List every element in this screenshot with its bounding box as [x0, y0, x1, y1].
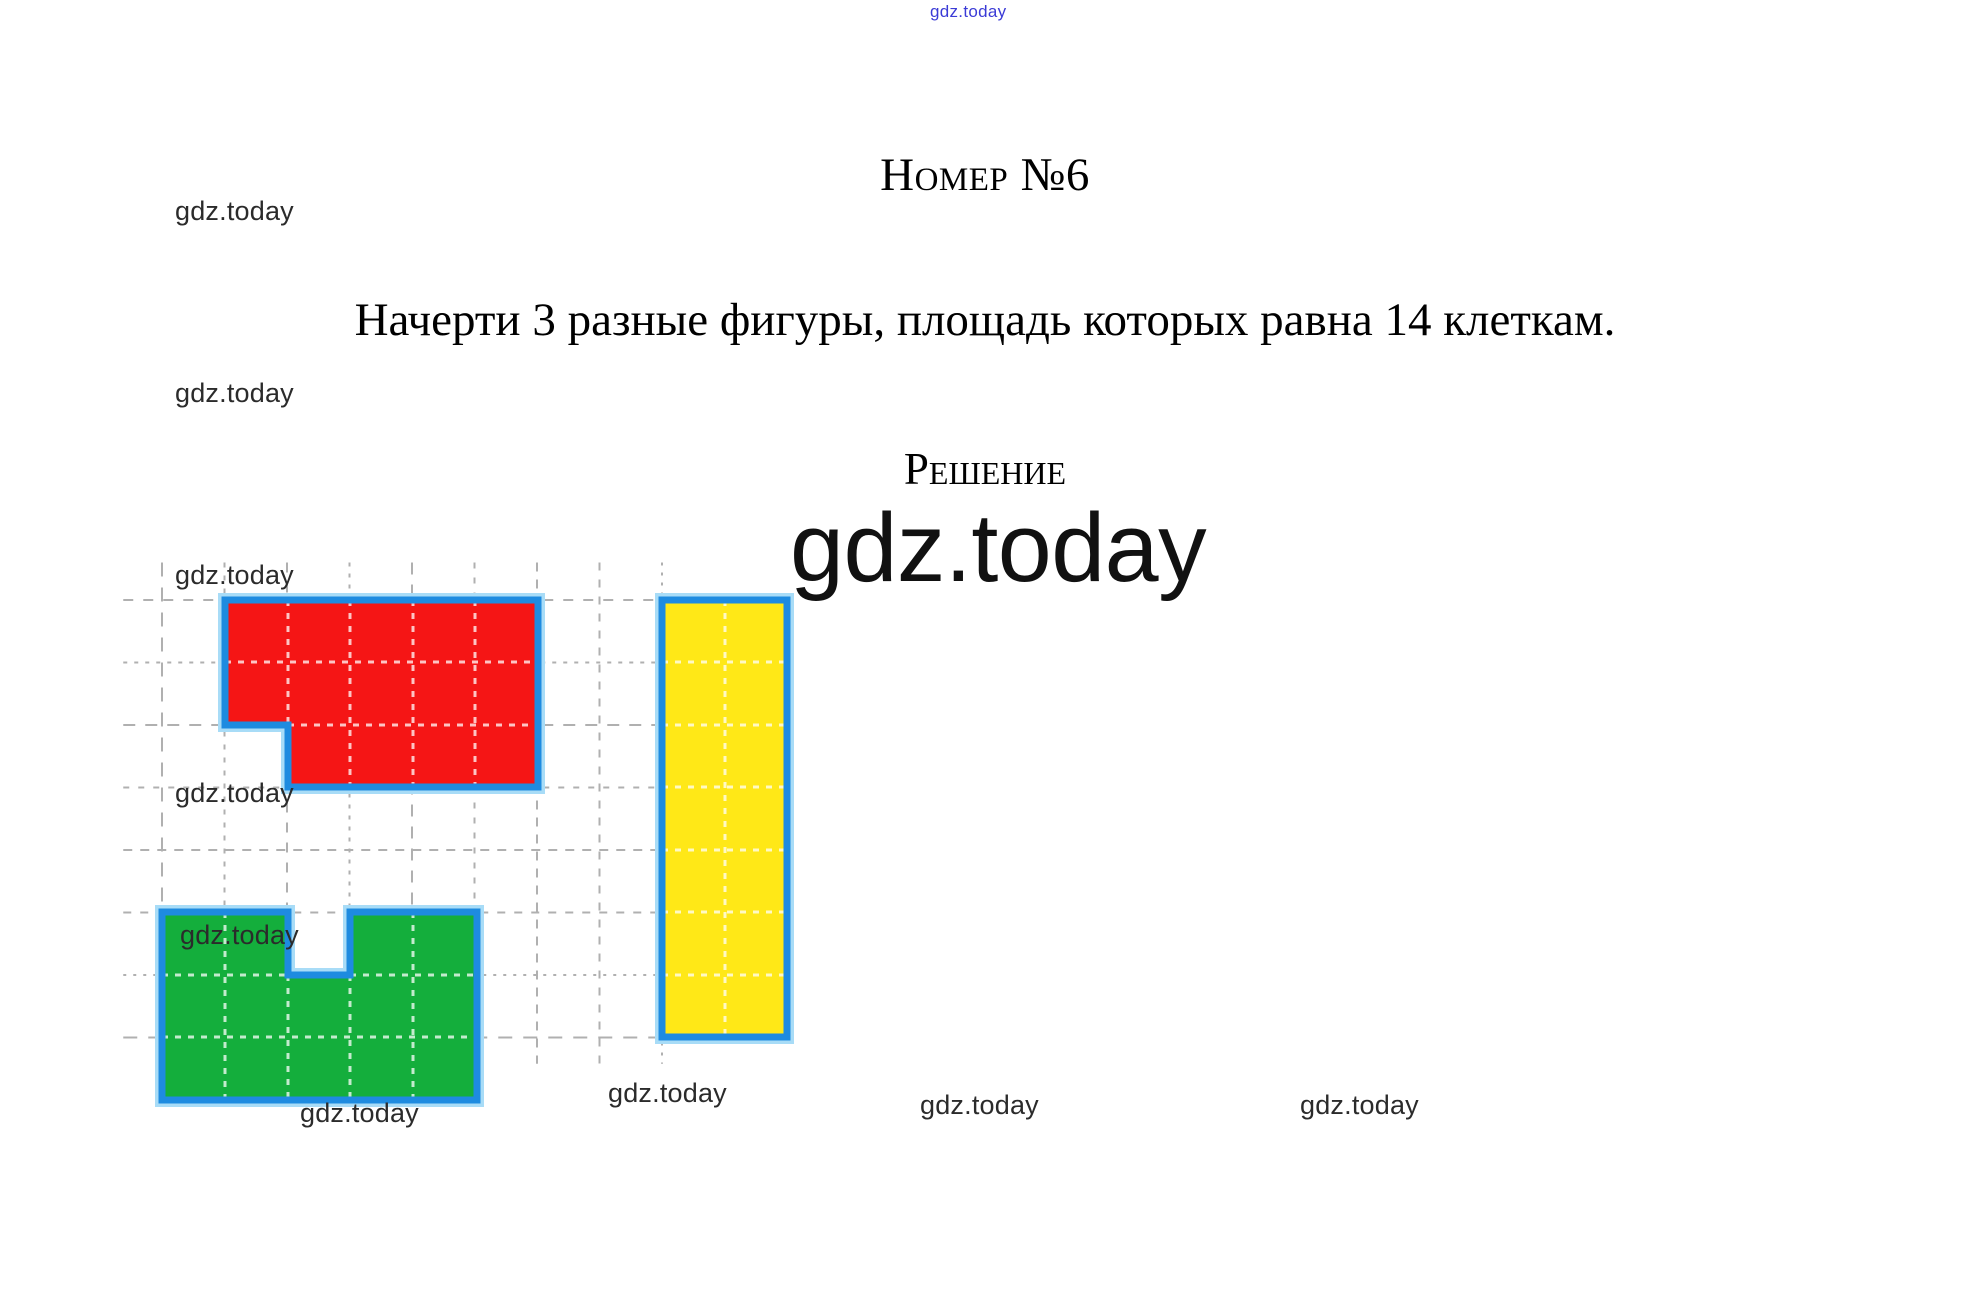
watermark-small: gdz.today: [175, 378, 294, 409]
watermark-small: gdz.today: [920, 1090, 1039, 1121]
watermark-small: gdz.today: [180, 920, 299, 951]
watermark-small: gdz.today: [1300, 1090, 1419, 1121]
watermark-small: gdz.today: [175, 196, 294, 227]
watermark-small: gdz.today: [175, 560, 294, 591]
watermark-small: gdz.today: [175, 778, 294, 809]
watermark-large: gdz.today: [790, 492, 1206, 604]
watermark-small: gdz.today: [608, 1078, 727, 1109]
watermark-small: gdz.today: [300, 1098, 419, 1129]
cell-grid: [130, 570, 830, 950]
